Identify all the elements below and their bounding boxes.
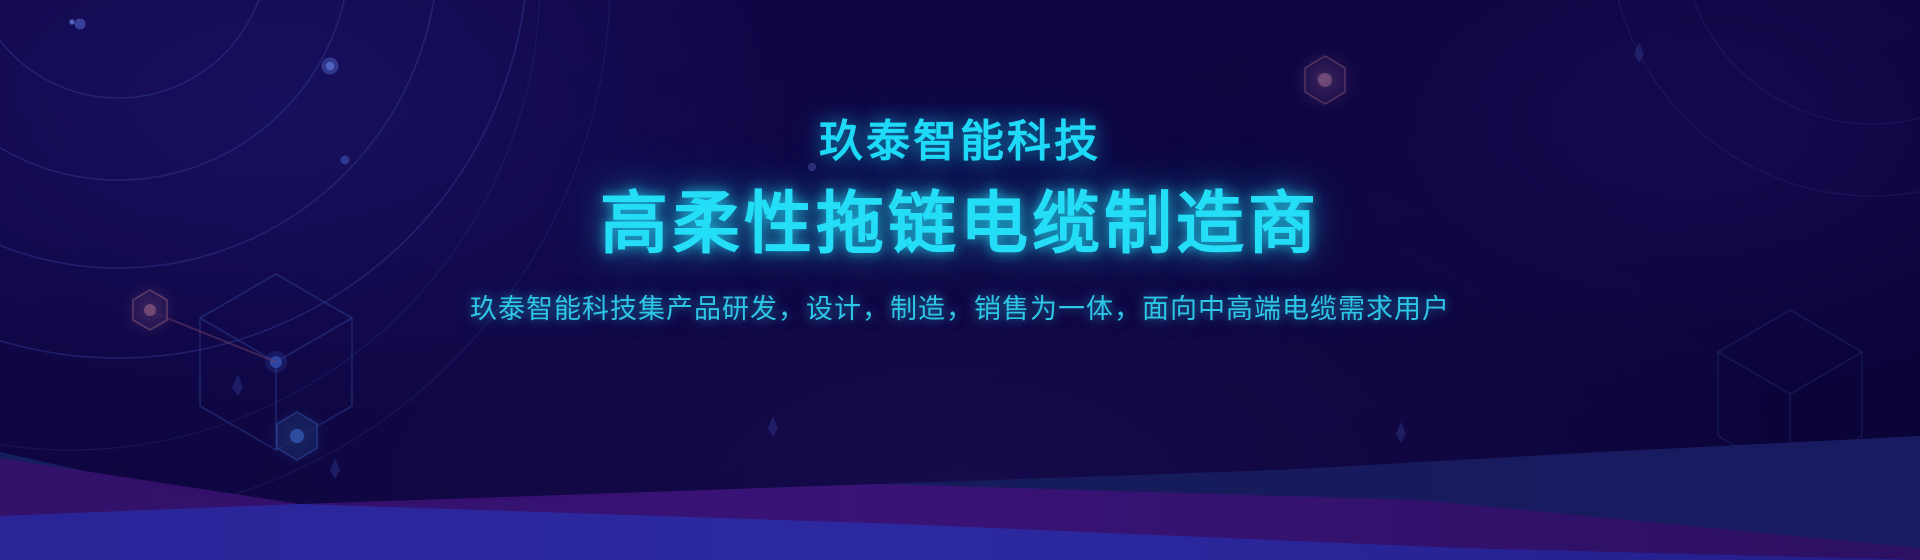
- hexagon-node-lower-left: [263, 402, 331, 470]
- hero-headline: 高柔性拖链电缆制造商: [0, 188, 1920, 261]
- brand-eyebrow: 玖泰智能科技: [0, 118, 1920, 166]
- hero-subline: 玖泰智能科技集产品研发，设计，制造，销售为一体，面向中高端电缆需求用户: [0, 292, 1920, 327]
- hero-content: 玖泰智能科技 高柔性拖链电缆制造商 玖泰智能科技集产品研发，设计，制造，销售为一…: [0, 0, 1920, 327]
- hero-banner: 玖泰智能科技 高柔性拖链电缆制造商 玖泰智能科技集产品研发，设计，制造，销售为一…: [0, 0, 1920, 560]
